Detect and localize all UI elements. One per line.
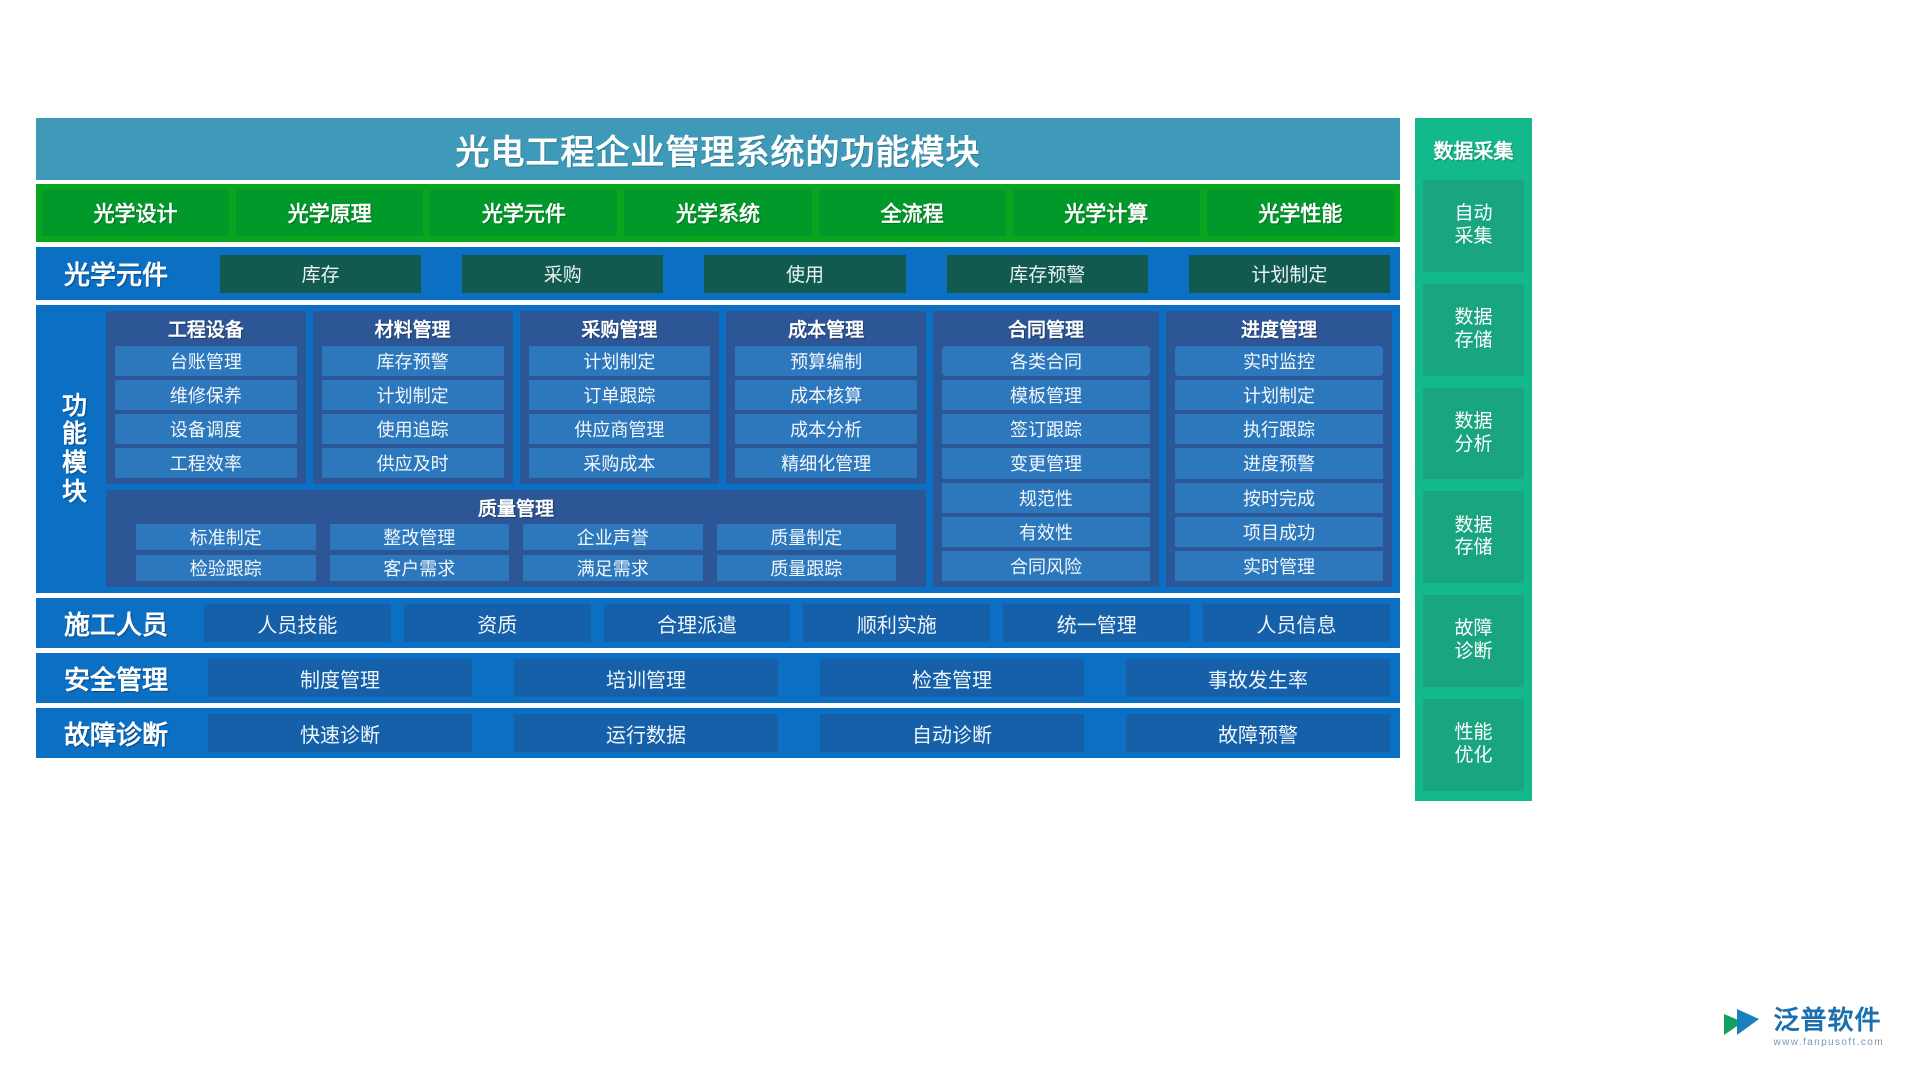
module-item[interactable]: 实时监控	[1175, 346, 1383, 376]
module-item[interactable]: 供应及时	[322, 448, 504, 478]
module-head: 合同管理	[942, 315, 1150, 342]
bottom-row-safety-management: 安全管理 制度管理 培训管理 检查管理 事故发生率	[36, 653, 1400, 703]
optical-cell[interactable]: 库存预警	[947, 255, 1148, 293]
module-item[interactable]: 质量制定	[717, 524, 897, 550]
bottom-row-construction-personnel: 施工人员 人员技能 资质 合理派遣 顺利实施 统一管理 人员信息	[36, 598, 1400, 648]
module-item[interactable]: 客户需求	[330, 555, 510, 581]
module-column-engineering-equipment: 工程设备 台账管理 维修保养 设备调度 工程效率	[106, 311, 306, 484]
module-item[interactable]: 台账管理	[115, 346, 297, 376]
row-cell[interactable]: 合理派遣	[604, 604, 791, 642]
optical-components-label: 光学元件	[46, 255, 186, 292]
module-item[interactable]: 维修保养	[115, 380, 297, 410]
brand-logo: 泛普软件 www.fanpusoft.com	[1724, 1007, 1884, 1048]
optical-components-row: 光学元件 库存 采购 使用 库存预警 计划制定	[36, 247, 1400, 300]
module-item[interactable]: 满足需求	[523, 555, 703, 581]
module-item[interactable]: 供应商管理	[529, 414, 711, 444]
sidebar-item-data-storage-1[interactable]: 数据 存储	[1423, 284, 1524, 376]
module-item[interactable]: 签订跟踪	[942, 414, 1150, 444]
module-item[interactable]: 合同风险	[942, 551, 1150, 581]
module-item[interactable]: 规范性	[942, 483, 1150, 513]
module-item[interactable]: 计划制定	[1175, 380, 1383, 410]
row-cell[interactable]: 自动诊断	[820, 714, 1084, 752]
brand-url: www.fanpusoft.com	[1773, 1038, 1884, 1048]
module-item[interactable]: 执行跟踪	[1175, 414, 1383, 444]
function-modules-section: 功能模块 工程设备 台账管理 维修保养 设备调度 工程效率	[36, 305, 1400, 593]
row-cell[interactable]: 故障预警	[1126, 714, 1390, 752]
module-item[interactable]: 成本分析	[735, 414, 917, 444]
module-column-quality-management: 质量管理 标准制定 整改管理 企业声誉 质量制定 检验跟踪 客户需求 满足需求 …	[106, 490, 926, 587]
row-cell[interactable]: 顺利实施	[803, 604, 990, 642]
sidebar-title: 数据采集	[1415, 118, 1532, 180]
bottom-row-fault-diagnosis: 故障诊断 快速诊断 运行数据 自动诊断 故障预警	[36, 708, 1400, 758]
module-item[interactable]: 进度预警	[1175, 448, 1383, 478]
module-item[interactable]: 设备调度	[115, 414, 297, 444]
module-item[interactable]: 模板管理	[942, 380, 1150, 410]
page-title: 光电工程企业管理系统的功能模块	[456, 125, 981, 174]
sidebar-data-collection: 数据采集 自动 采集 数据 存储 数据 分析 数据 存储 故障 诊断 性能 优化	[1415, 118, 1532, 801]
module-item[interactable]: 按时完成	[1175, 483, 1383, 513]
diagram-canvas: 泛普软件 FANPU SOFTWARE 光电工程企业管理系统的功能模块 光学设计…	[0, 0, 1920, 1080]
row-cell[interactable]: 事故发生率	[1126, 659, 1390, 697]
module-item[interactable]: 库存预警	[322, 346, 504, 376]
row-cell[interactable]: 运行数据	[514, 714, 778, 752]
topic-chip[interactable]: 全流程	[819, 190, 1006, 236]
topic-chip[interactable]: 光学性能	[1207, 190, 1394, 236]
optical-cell[interactable]: 库存	[220, 255, 421, 293]
module-item[interactable]: 计划制定	[322, 380, 504, 410]
row-cell[interactable]: 快速诊断	[208, 714, 472, 752]
module-item[interactable]: 各类合同	[942, 346, 1150, 376]
optical-cell[interactable]: 采购	[462, 255, 663, 293]
module-item[interactable]: 变更管理	[942, 448, 1150, 478]
module-item[interactable]: 成本核算	[735, 380, 917, 410]
module-item[interactable]: 预算编制	[735, 346, 917, 376]
optical-cell[interactable]: 使用	[704, 255, 905, 293]
module-column-procurement-management: 采购管理 计划制定 订单跟踪 供应商管理 采购成本	[520, 311, 720, 484]
sidebar-item-data-analysis[interactable]: 数据 分析	[1423, 388, 1524, 480]
row-cell[interactable]: 制度管理	[208, 659, 472, 697]
module-item[interactable]: 采购成本	[529, 448, 711, 478]
row-cell[interactable]: 检查管理	[820, 659, 1084, 697]
module-head: 采购管理	[529, 315, 711, 342]
module-column-cost-management: 成本管理 预算编制 成本核算 成本分析 精细化管理	[726, 311, 926, 484]
module-item[interactable]: 精细化管理	[735, 448, 917, 478]
sidebar-item-auto-collect[interactable]: 自动 采集	[1423, 180, 1524, 272]
row-cell[interactable]: 人员信息	[1203, 604, 1390, 642]
module-item[interactable]: 质量跟踪	[717, 555, 897, 581]
module-column-contract-management: 合同管理 各类合同 模板管理 签订跟踪 变更管理 规范性 有效性 合同风险	[933, 311, 1159, 587]
module-item[interactable]: 实时管理	[1175, 551, 1383, 581]
topic-chip[interactable]: 光学设计	[42, 190, 229, 236]
fanpu-logo-icon	[1724, 1009, 1764, 1047]
row-cell[interactable]: 人员技能	[204, 604, 391, 642]
module-item[interactable]: 工程效率	[115, 448, 297, 478]
optical-cell[interactable]: 计划制定	[1189, 255, 1390, 293]
title-bar: 光电工程企业管理系统的功能模块	[36, 118, 1400, 180]
function-modules-label: 功能模块	[44, 311, 106, 587]
row-cell[interactable]: 资质	[404, 604, 591, 642]
module-item[interactable]: 项目成功	[1175, 517, 1383, 547]
sidebar-item-fault-diagnosis[interactable]: 故障 诊断	[1423, 595, 1524, 687]
module-item[interactable]: 订单跟踪	[529, 380, 711, 410]
module-item[interactable]: 计划制定	[529, 346, 711, 376]
topic-chip[interactable]: 光学系统	[624, 190, 811, 236]
brand-name: 泛普软件	[1773, 1007, 1884, 1033]
module-column-material-management: 材料管理 库存预警 计划制定 使用追踪 供应及时	[313, 311, 513, 484]
module-column-progress-management: 进度管理 实时监控 计划制定 执行跟踪 进度预警 按时完成 项目成功 实时管理	[1166, 311, 1392, 587]
topics-row: 光学设计 光学原理 光学元件 光学系统 全流程 光学计算 光学性能	[36, 184, 1400, 242]
module-item[interactable]: 标准制定	[136, 524, 316, 550]
sidebar-item-performance-optimization[interactable]: 性能 优化	[1423, 699, 1524, 791]
topic-chip[interactable]: 光学元件	[430, 190, 617, 236]
sidebar-item-data-storage-2[interactable]: 数据 存储	[1423, 491, 1524, 583]
module-item[interactable]: 企业声誉	[523, 524, 703, 550]
module-head: 质量管理	[116, 494, 916, 521]
module-item[interactable]: 有效性	[942, 517, 1150, 547]
module-item[interactable]: 整改管理	[330, 524, 510, 550]
row-label: 安全管理	[46, 660, 186, 697]
module-item[interactable]: 检验跟踪	[136, 555, 316, 581]
topic-chip[interactable]: 光学原理	[236, 190, 423, 236]
row-cell[interactable]: 培训管理	[514, 659, 778, 697]
main-board: 光电工程企业管理系统的功能模块 光学设计 光学原理 光学元件 光学系统 全流程 …	[36, 118, 1400, 801]
module-head: 进度管理	[1175, 315, 1383, 342]
row-cell[interactable]: 统一管理	[1003, 604, 1190, 642]
module-head: 成本管理	[735, 315, 917, 342]
topic-chip[interactable]: 光学计算	[1013, 190, 1200, 236]
row-label: 故障诊断	[46, 715, 186, 752]
module-item[interactable]: 使用追踪	[322, 414, 504, 444]
module-head: 工程设备	[115, 315, 297, 342]
row-label: 施工人员	[46, 605, 186, 642]
module-head: 材料管理	[322, 315, 504, 342]
